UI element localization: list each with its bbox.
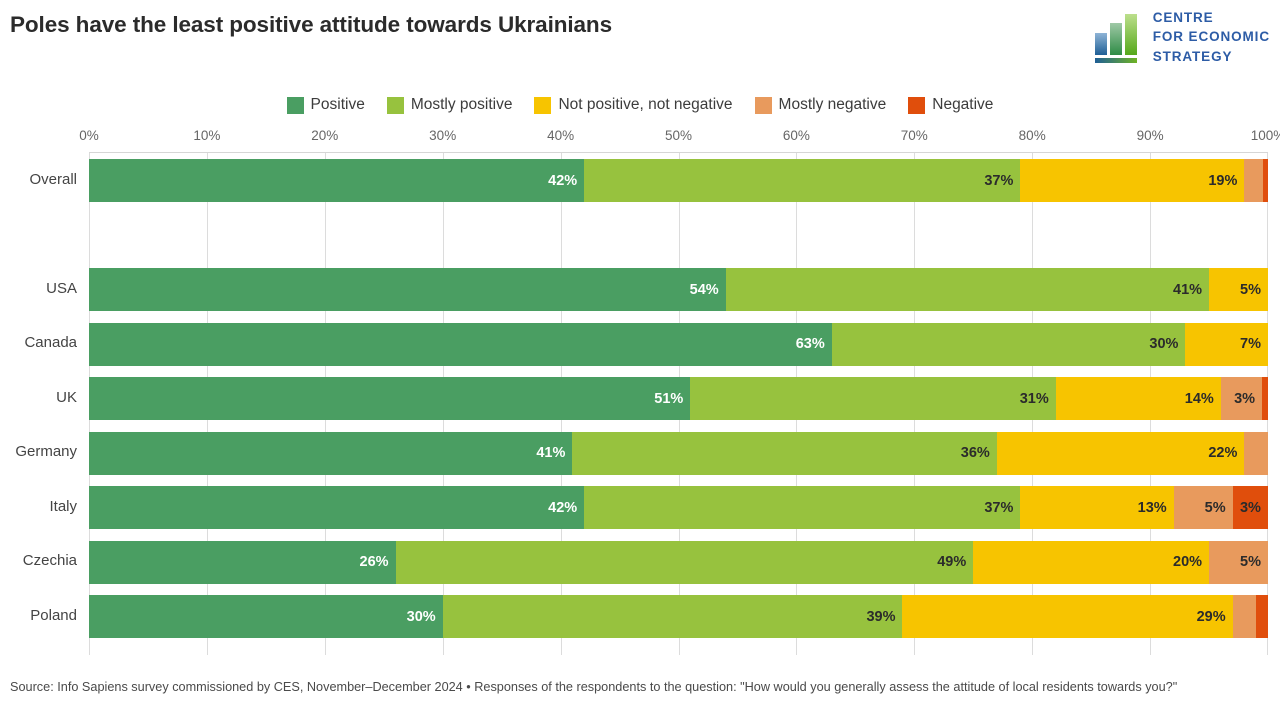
bar-segment[interactable]	[1262, 377, 1268, 420]
legend-item-mostly-negative[interactable]: Mostly negative	[755, 96, 887, 114]
bar-value-label: 39%	[866, 609, 902, 625]
bar-value-label: 42%	[548, 173, 584, 189]
x-axis-tick-label: 50%	[665, 128, 692, 143]
bar-segment[interactable]	[1233, 595, 1257, 638]
x-axis-tick-label: 30%	[429, 128, 456, 143]
bar-segment[interactable]: 41%	[726, 268, 1209, 311]
bar-row[interactable]: 51%31%14%3%	[89, 377, 1268, 420]
bar-segment[interactable]	[1244, 159, 1263, 202]
bar-value-label: 30%	[407, 609, 443, 625]
bar-row[interactable]: 54%41%5%	[89, 268, 1268, 311]
bar-value-label: 41%	[1173, 282, 1209, 298]
bar-row[interactable]: 26%49%20%5%	[89, 541, 1268, 584]
x-axis-tick-label: 60%	[783, 128, 810, 143]
legend-item-positive[interactable]: Positive	[287, 96, 365, 114]
category-label: Poland	[30, 607, 77, 624]
bar-segment[interactable]: 37%	[584, 486, 1020, 529]
bar-segment[interactable]	[1256, 595, 1268, 638]
bar-segment[interactable]: 30%	[832, 323, 1186, 366]
bar-value-label: 51%	[654, 391, 690, 407]
category-label: USA	[46, 280, 77, 297]
bar-segment[interactable]: 41%	[89, 432, 572, 475]
bar-value-label: 5%	[1240, 282, 1268, 298]
category-label: Canada	[24, 334, 77, 351]
bar-segment[interactable]: 29%	[902, 595, 1232, 638]
legend-label: Mostly positive	[411, 96, 513, 114]
x-axis-tick-label: 80%	[1019, 128, 1046, 143]
chart-legend: PositiveMostly positiveNot positive, not…	[0, 96, 1280, 114]
legend-swatch-icon	[387, 97, 404, 114]
bar-value-label: 37%	[984, 173, 1020, 189]
bar-value-label: 41%	[536, 445, 572, 461]
bar-value-label: 14%	[1185, 391, 1221, 407]
bar-segment[interactable]: 14%	[1056, 377, 1221, 420]
x-axis-tick-label: 20%	[311, 128, 338, 143]
bar-segment[interactable]: 13%	[1020, 486, 1173, 529]
logo-wordmark: CENTRE FOR ECONOMIC STRATEGY	[1153, 8, 1270, 65]
category-label: Overall	[29, 171, 77, 188]
bar-segment[interactable]: 7%	[1185, 323, 1268, 366]
source-note: Source: Info Sapiens survey commissioned…	[10, 678, 1272, 696]
bar-segment[interactable]: 54%	[89, 268, 726, 311]
bar-segment[interactable]: 26%	[89, 541, 396, 584]
bar-value-label: 30%	[1149, 336, 1185, 352]
bar-value-label: 3%	[1240, 500, 1268, 516]
bar-value-label: 36%	[961, 445, 997, 461]
bar-segment[interactable]	[1244, 432, 1268, 475]
page-title: Poles have the least positive attitude t…	[10, 12, 612, 38]
x-axis-tick-label: 100%	[1251, 128, 1280, 143]
logo-line-2: FOR ECONOMIC	[1153, 27, 1270, 46]
plot-area: Overall42%37%19%USA54%41%5%Canada63%30%7…	[89, 152, 1268, 655]
bar-segment[interactable]: 36%	[572, 432, 996, 475]
bar-segment[interactable]: 31%	[690, 377, 1055, 420]
x-axis-ticks: 0%10%20%30%40%50%60%70%80%90%100%	[89, 128, 1268, 150]
bar-segment[interactable]: 63%	[89, 323, 832, 366]
bar-segment[interactable]: 49%	[396, 541, 974, 584]
bar-segment[interactable]: 3%	[1233, 486, 1268, 529]
bar-value-label: 42%	[548, 500, 584, 516]
bar-value-label: 22%	[1208, 445, 1244, 461]
bar-value-label: 54%	[690, 282, 726, 298]
bar-segment[interactable]: 39%	[443, 595, 903, 638]
legend-swatch-icon	[908, 97, 925, 114]
bar-value-label: 13%	[1138, 500, 1174, 516]
bar-value-label: 20%	[1173, 554, 1209, 570]
bar-segment[interactable]: 37%	[584, 159, 1020, 202]
chart-plot-wrapper: 0%10%20%30%40%50%60%70%80%90%100% Overal…	[0, 128, 1280, 658]
bar-segment[interactable]: 20%	[973, 541, 1209, 584]
logo-line-1: CENTRE	[1153, 8, 1270, 27]
bar-row[interactable]: 41%36%22%	[89, 432, 1268, 475]
bar-value-label: 5%	[1240, 554, 1268, 570]
bar-row[interactable]: 63%30%7%	[89, 323, 1268, 366]
bar-row[interactable]: 42%37%19%	[89, 159, 1268, 202]
legend-label: Not positive, not negative	[558, 96, 732, 114]
bar-segment[interactable]: 5%	[1209, 541, 1268, 584]
bar-value-label: 26%	[360, 554, 396, 570]
bar-segment[interactable]: 19%	[1020, 159, 1244, 202]
legend-label: Positive	[311, 96, 365, 114]
bar-value-label: 49%	[937, 554, 973, 570]
bar-value-label: 63%	[796, 336, 832, 352]
bar-row[interactable]: 42%37%13%5%3%	[89, 486, 1268, 529]
x-axis-tick-label: 40%	[547, 128, 574, 143]
bar-segment[interactable]: 42%	[89, 159, 584, 202]
legend-item-not-positive-not-negative[interactable]: Not positive, not negative	[534, 96, 732, 114]
bar-value-label: 5%	[1205, 500, 1233, 516]
legend-swatch-icon	[534, 97, 551, 114]
bar-segment[interactable]: 30%	[89, 595, 443, 638]
bar-segment[interactable]	[1263, 159, 1268, 202]
legend-item-mostly-positive[interactable]: Mostly positive	[387, 96, 513, 114]
bar-value-label: 19%	[1208, 173, 1244, 189]
bar-segment[interactable]: 5%	[1174, 486, 1233, 529]
bar-rows: Overall42%37%19%USA54%41%5%Canada63%30%7…	[89, 153, 1268, 655]
bar-segment[interactable]: 5%	[1209, 268, 1268, 311]
legend-item-negative[interactable]: Negative	[908, 96, 993, 114]
bar-value-label: 37%	[984, 500, 1020, 516]
ces-logo: CENTRE FOR ECONOMIC STRATEGY	[1094, 6, 1270, 68]
logo-bars-icon	[1094, 11, 1144, 63]
x-axis-tick-label: 90%	[1137, 128, 1164, 143]
legend-label: Mostly negative	[779, 96, 887, 114]
category-label: UK	[56, 389, 77, 406]
category-label: Czechia	[23, 552, 77, 569]
category-label: Germany	[15, 443, 77, 460]
bar-segment[interactable]: 3%	[1221, 377, 1262, 420]
x-axis-tick-label: 0%	[79, 128, 99, 143]
legend-label: Negative	[932, 96, 993, 114]
legend-swatch-icon	[287, 97, 304, 114]
bar-row[interactable]: 30%39%29%	[89, 595, 1268, 638]
category-label: Italy	[49, 498, 77, 515]
bar-value-label: 3%	[1234, 391, 1262, 407]
bar-segment[interactable]: 22%	[997, 432, 1245, 475]
logo-line-3: STRATEGY	[1153, 47, 1270, 66]
bar-value-label: 7%	[1240, 336, 1268, 352]
bar-value-label: 29%	[1197, 609, 1233, 625]
x-axis-tick-label: 70%	[901, 128, 928, 143]
bar-segment[interactable]: 51%	[89, 377, 690, 420]
legend-swatch-icon	[755, 97, 772, 114]
bar-value-label: 31%	[1020, 391, 1056, 407]
bar-segment[interactable]: 42%	[89, 486, 584, 529]
x-axis-tick-label: 10%	[193, 128, 220, 143]
chart-header: Poles have the least positive attitude t…	[0, 0, 1280, 80]
